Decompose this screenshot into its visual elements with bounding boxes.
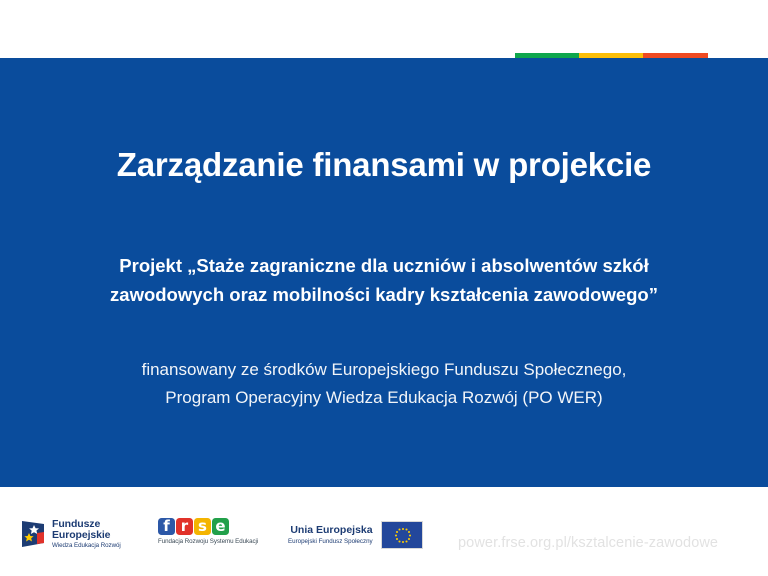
fe-line-2: Europejskie bbox=[52, 530, 121, 541]
project-name-line-1: Projekt „Staże zagraniczne dla uczniów i… bbox=[0, 251, 768, 280]
frse-letter-tiles: f r s e bbox=[158, 518, 258, 535]
top-white-strip bbox=[0, 0, 768, 53]
footer-url: power.frse.org.pl/ksztalcenie-zawodowe bbox=[458, 535, 718, 551]
logo-frse: f r s e Fundacja Rozwoju Systemu Edukacj… bbox=[158, 518, 258, 545]
ue-line-2: Europejski Fundusz Społeczny bbox=[288, 538, 373, 545]
ue-line-1: Unia Europejska bbox=[288, 524, 373, 536]
unia-europejska-wordmark: Unia Europejska Europejski Fundusz Społe… bbox=[288, 524, 373, 545]
frse-tile-r: r bbox=[176, 518, 193, 535]
funding-source-line-2: Program Operacyjny Wiedza Edukacja Rozwó… bbox=[0, 384, 768, 412]
frse-tile-s: s bbox=[194, 518, 211, 535]
frse-tile-f: f bbox=[158, 518, 175, 535]
frse-tile-e: e bbox=[212, 518, 229, 535]
funding-source-block: finansowany ze środków Europejskiego Fun… bbox=[0, 356, 768, 412]
funding-source-line-1: finansowany ze środków Europejskiego Fun… bbox=[0, 356, 768, 384]
logo-fundusze-europejskie: Fundusze Europejskie Wiedza Edukacja Roz… bbox=[20, 519, 121, 550]
fundusze-europejskie-flag-icon bbox=[20, 519, 46, 549]
project-name-line-2: zawodowych oraz mobilności kadry kształc… bbox=[0, 280, 768, 309]
fundusze-europejskie-wordmark: Fundusze Europejskie Wiedza Edukacja Roz… bbox=[52, 519, 121, 550]
slide-title: Zarządzanie finansami w projekcie bbox=[0, 146, 768, 184]
project-name-block: Projekt „Staże zagraniczne dla uczniów i… bbox=[0, 251, 768, 309]
frse-subtitle: Fundacja Rozwoju Systemu Edukacji bbox=[158, 538, 258, 545]
fe-line-3: Wiedza Edukacja Rozwój bbox=[52, 543, 121, 550]
logo-unia-europejska: Unia Europejska Europejski Fundusz Społe… bbox=[288, 521, 423, 549]
eu-flag-icon bbox=[381, 521, 423, 549]
slide-hero-band: Zarządzanie finansami w projekcie Projek… bbox=[0, 58, 768, 487]
